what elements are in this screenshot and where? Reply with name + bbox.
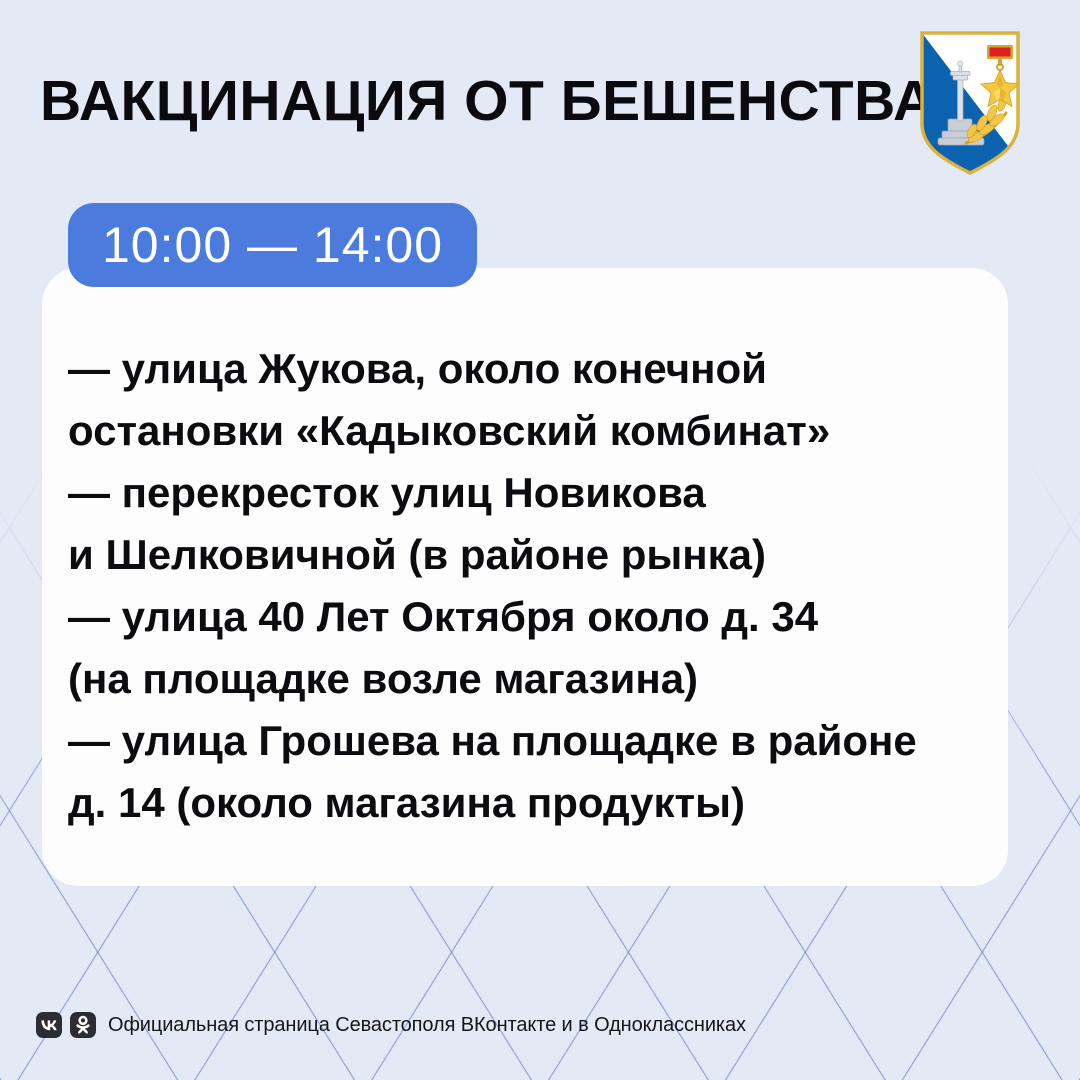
location-line: — улица 40 Лет Октября около д. 34 (68, 586, 990, 648)
list-item: — улица Грошева на площадке в районе д. … (68, 710, 990, 834)
time-badge-label: 10:00 — 14:00 (102, 220, 443, 270)
locations-card: — улица Жукова, около конечной остановки… (42, 268, 1008, 886)
list-item: — улица 40 Лет Октября около д. 34 (на п… (68, 586, 990, 710)
footer-label: Официальная страница Севастополя ВКонтак… (108, 1014, 746, 1037)
location-line: — улица Жукова, около конечной (68, 338, 990, 400)
location-line: остановки «Кадыковский комбинат» (68, 400, 990, 462)
location-line: (на площадке возле магазина) (68, 648, 990, 710)
footer: Официальная страница Севастополя ВКонтак… (36, 1012, 746, 1038)
location-line: — улица Грошева на площадке в районе (68, 710, 990, 772)
list-item: — улица Жукова, около конечной остановки… (68, 338, 990, 462)
page-title: ВАКЦИНАЦИЯ ОТ БЕШЕНСТВА (40, 73, 935, 130)
sevastopol-coat-of-arms-icon (916, 27, 1024, 179)
vk-icon[interactable] (36, 1012, 62, 1038)
location-line: и Шелковичной (в районе рынка) (68, 524, 990, 586)
location-line: — перекресток улиц Новикова (68, 462, 990, 524)
poster-root: ВАКЦИНАЦИЯ ОТ БЕШЕНСТВА (0, 0, 1080, 1080)
list-item: — перекресток улиц Новикова и Шелковично… (68, 462, 990, 586)
locations-list: — улица Жукова, около конечной остановки… (68, 338, 990, 834)
odnoklassniki-icon[interactable] (70, 1012, 96, 1038)
time-badge: 10:00 — 14:00 (68, 203, 477, 287)
location-line: д. 14 (около магазина продукты) (68, 772, 990, 834)
